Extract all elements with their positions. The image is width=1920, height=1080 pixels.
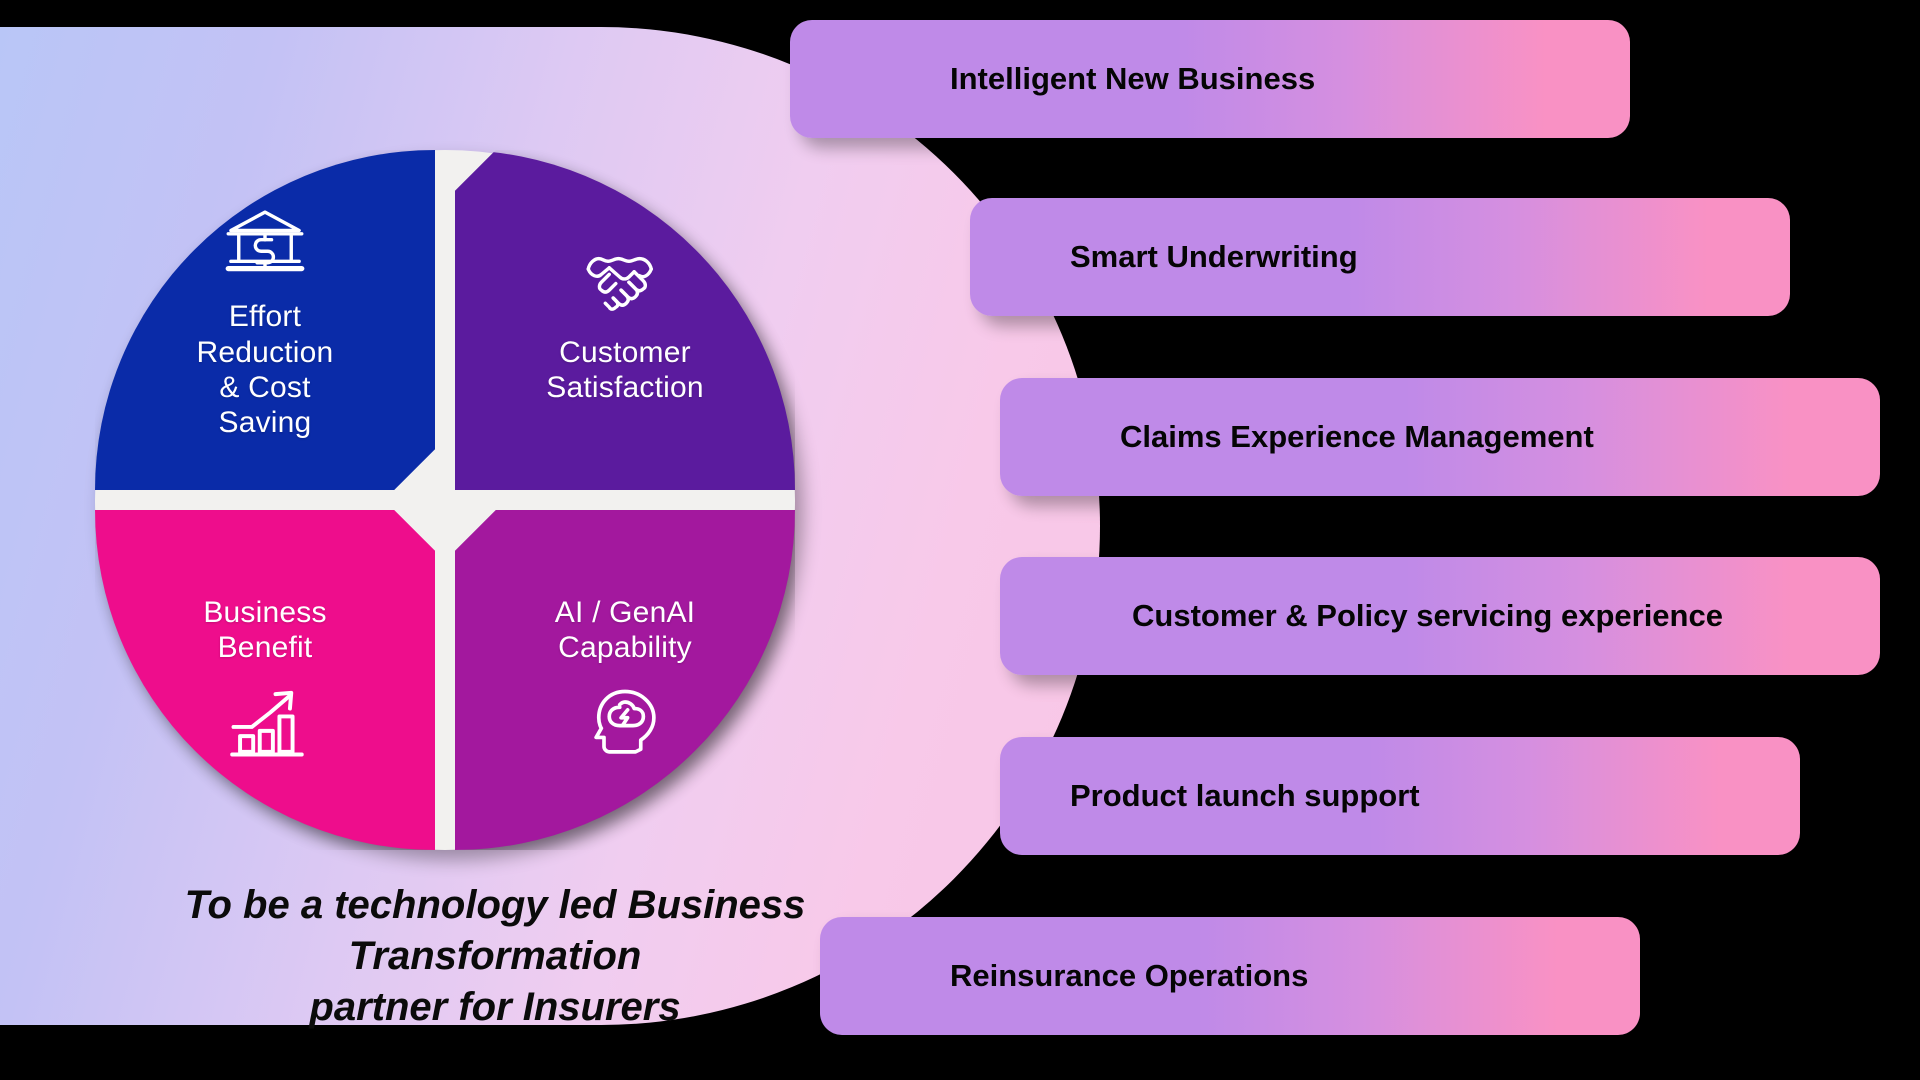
quadrant-label-line: Benefit	[203, 630, 326, 665]
growth-chart-icon	[223, 681, 307, 765]
quadrant-label-line: Satisfaction	[546, 370, 703, 405]
capability-pill-label: Reinsurance Operations	[950, 958, 1308, 994]
capability-pill-label: Claims Experience Management	[1120, 419, 1594, 455]
quadrant-label-line: Customer	[546, 335, 703, 370]
wheel-quadrant-customer-satisfaction[interactable]: Customer Satisfaction	[455, 150, 795, 490]
capability-pill-customer-policy-servicing-experience[interactable]: Customer & Policy servicing experience	[1000, 557, 1880, 675]
capability-pill-label: Customer & Policy servicing experience	[1132, 598, 1723, 634]
quadrant-label: Customer Satisfaction	[546, 335, 703, 406]
capability-pill-intelligent-new-business[interactable]: Intelligent New Business	[790, 20, 1630, 138]
quadrant-label: Business Benefit	[203, 595, 326, 666]
handshake-icon	[583, 235, 667, 319]
wheel-quadrant-ai-genai-capability[interactable]: AI / GenAI Capability	[455, 510, 795, 850]
tagline-line-1: To be a technology led Business Transfor…	[55, 880, 935, 982]
tagline-line-2: partner for Insurers	[55, 982, 935, 1033]
wheel-quadrant-business-benefit[interactable]: Business Benefit	[95, 510, 435, 850]
diagram-canvas: Effort Reduction & Cost Saving	[0, 0, 1920, 1080]
quadrant-label: Effort Reduction & Cost Saving	[197, 299, 334, 441]
wheel-quadrant-effort-reduction[interactable]: Effort Reduction & Cost Saving	[95, 150, 435, 490]
tagline: To be a technology led Business Transfor…	[55, 880, 935, 1034]
capability-pill-smart-underwriting[interactable]: Smart Underwriting	[970, 198, 1790, 316]
quadrant-label-line: Effort	[197, 299, 334, 334]
capability-pill-label: Product launch support	[1070, 778, 1420, 814]
quadrant-label-line: Business	[203, 595, 326, 630]
quadrant-label-line: Reduction	[197, 335, 334, 370]
bank-dollar-icon	[223, 199, 307, 283]
brain-lightning-head-icon	[583, 681, 667, 765]
capability-pill-claims-experience-management[interactable]: Claims Experience Management	[1000, 378, 1880, 496]
capability-pill-product-launch-support[interactable]: Product launch support	[1000, 737, 1800, 855]
quadrant-label-line: Capability	[555, 630, 695, 665]
capability-wheel: Effort Reduction & Cost Saving	[95, 150, 795, 850]
quadrant-label-line: Saving	[197, 405, 334, 440]
quadrant-label: AI / GenAI Capability	[555, 595, 695, 666]
capability-pill-label: Smart Underwriting	[1070, 239, 1358, 275]
capability-pill-reinsurance-operations[interactable]: Reinsurance Operations	[820, 917, 1640, 1035]
capability-pill-label: Intelligent New Business	[950, 61, 1315, 97]
quadrant-label-line: AI / GenAI	[555, 595, 695, 630]
quadrant-label-line: & Cost	[197, 370, 334, 405]
